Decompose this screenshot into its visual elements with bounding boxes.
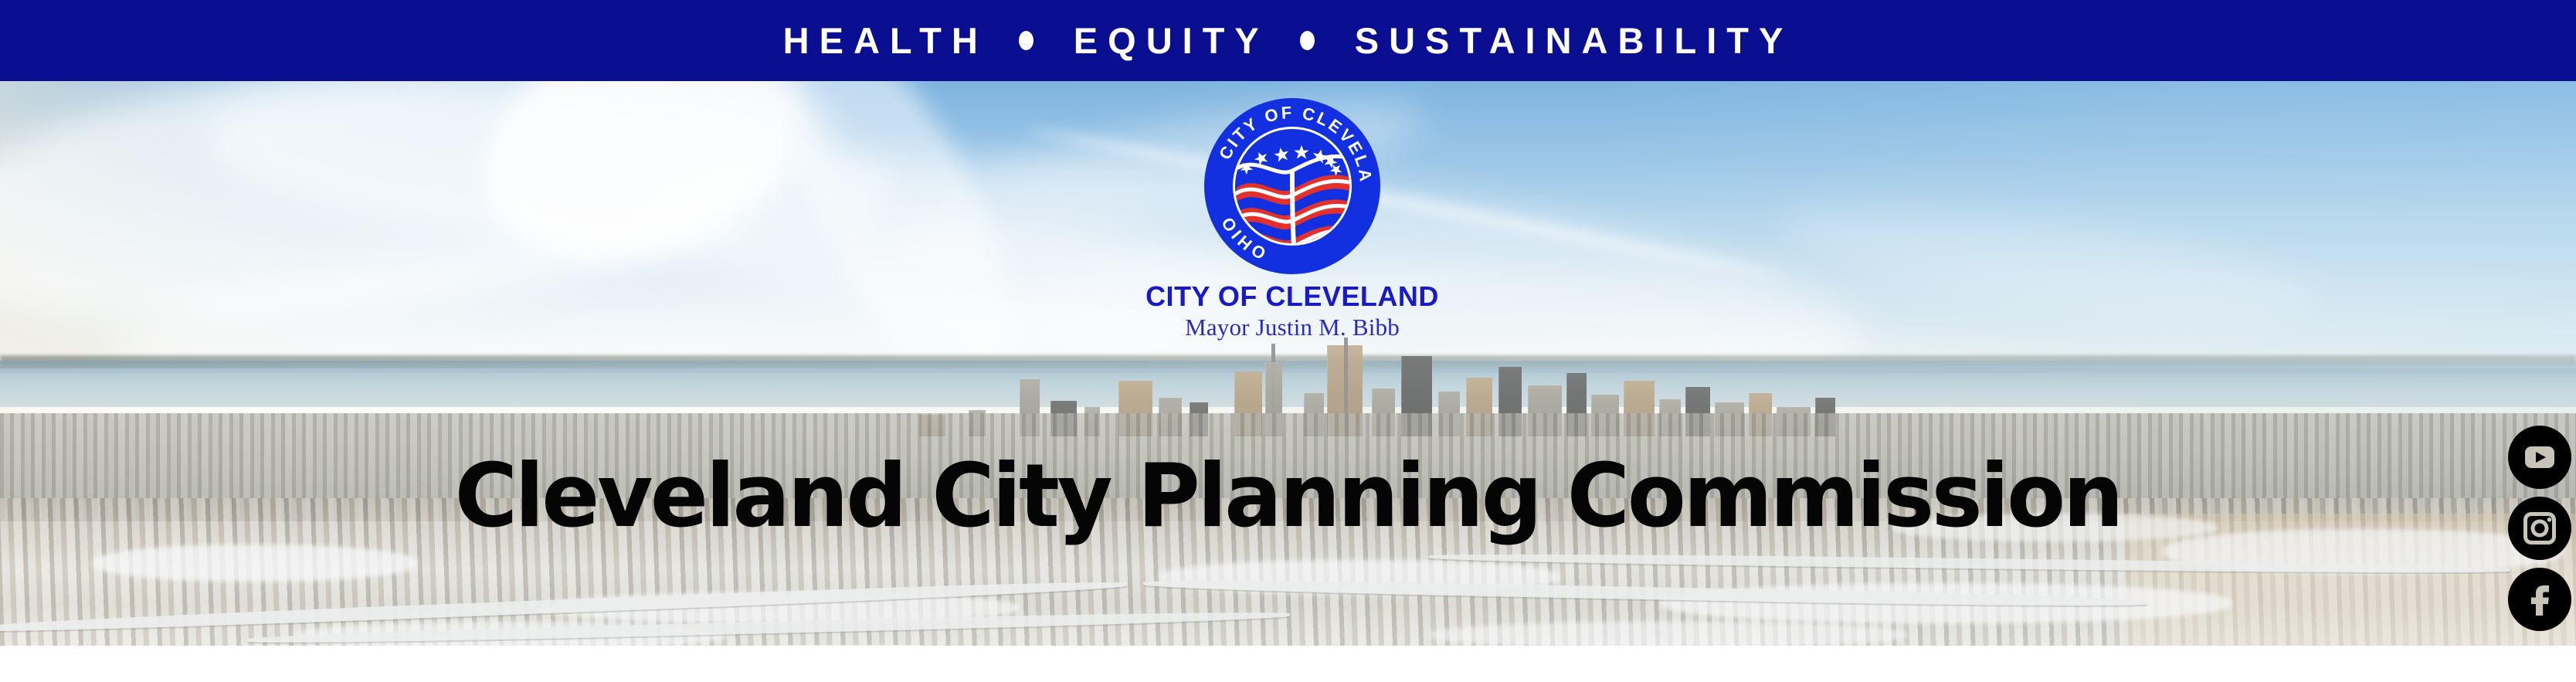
city-seal-icon: CITY OF CLEVELAND OHIO <box>1203 97 1382 276</box>
snow-patch <box>93 545 417 582</box>
social-media-rail <box>2508 426 2571 631</box>
page-title: Cleveland City Planning Commission <box>25 453 2550 540</box>
tagline-word-health: HEALTH <box>783 22 988 59</box>
instagram-link[interactable] <box>2508 497 2571 560</box>
instagram-icon <box>2520 509 2559 548</box>
page-root: HEALTH EQUITY SUSTAINABILITY <box>0 0 2576 682</box>
tagline-word-sustainability: SUSTAINABILITY <box>1355 22 1794 59</box>
tagline-inner: HEALTH EQUITY SUSTAINABILITY <box>783 22 1794 59</box>
facebook-icon <box>2520 580 2559 619</box>
youtube-link[interactable] <box>2508 426 2571 489</box>
city-logo-block: CITY OF CLEVELAND OHIO CITY OF CLEVELAND… <box>1145 97 1439 340</box>
logo-mayor-name: Mayor Justin M. Bibb <box>1145 315 1439 341</box>
youtube-icon <box>2519 436 2561 478</box>
tagline-banner: HEALTH EQUITY SUSTAINABILITY <box>0 0 2576 81</box>
snow-patch <box>1429 622 1908 646</box>
bottom-white-strip <box>0 646 2576 682</box>
tagline-separator-dot-2 <box>1300 31 1315 50</box>
tagline-separator-dot-1 <box>1019 31 1033 50</box>
logo-organization-name: CITY OF CLEVELAND <box>1145 282 1439 311</box>
tagline-word-equity: EQUITY <box>1074 22 1269 59</box>
facebook-link[interactable] <box>2508 568 2571 631</box>
